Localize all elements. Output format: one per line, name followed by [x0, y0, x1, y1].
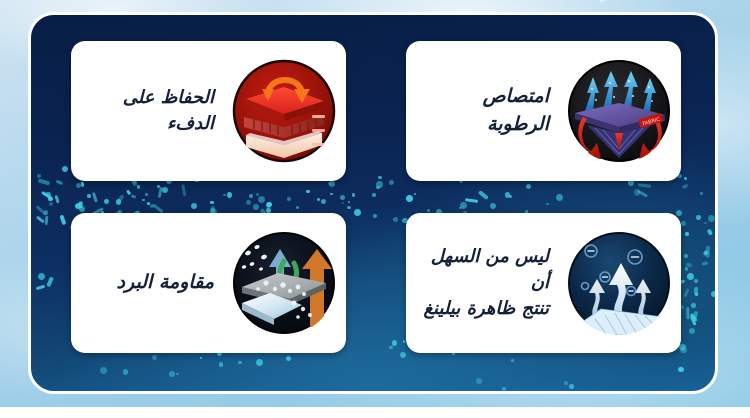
particle-dot	[49, 202, 53, 206]
feature-card-cold-resistance-label: مقاومة البرد	[71, 269, 226, 297]
particle-dot	[476, 378, 482, 384]
particle-dot	[414, 193, 416, 195]
particle-dash	[478, 190, 489, 200]
particle-dash	[702, 261, 709, 266]
feature-card-moisture-absorption-label: امتصاص الرطوبة	[406, 83, 561, 138]
particle-dash	[125, 189, 131, 195]
particle-dot	[328, 182, 332, 186]
particle-dot	[634, 189, 641, 196]
warmth-retention-icon	[232, 59, 336, 163]
particle-dot	[685, 267, 689, 271]
label-line-1: مقاومة البرد	[81, 269, 214, 297]
particle-dash	[703, 250, 709, 256]
particle-dash	[92, 192, 97, 202]
particle-dot	[157, 185, 160, 188]
particle-dot	[79, 206, 85, 212]
particle-dot	[376, 186, 380, 190]
particle-dot	[330, 193, 333, 196]
particle-dot	[191, 203, 197, 209]
particle-dot	[354, 209, 361, 216]
particle-dash	[37, 178, 50, 185]
particle-dot	[246, 200, 251, 205]
particle-dot	[685, 232, 690, 237]
feature-card-moisture-absorption[interactable]: FABRIC امتصاص الرطوبة	[406, 41, 681, 181]
particle-dash	[637, 189, 648, 197]
particle-dash	[706, 229, 712, 236]
feature-card-anti-pilling[interactable]: ليس من السهل أن تنتج ظاهرة بيلينغ	[406, 213, 681, 353]
particle-dot	[219, 362, 224, 367]
particle-dot	[123, 369, 128, 374]
particle-dot	[678, 367, 683, 372]
particle-dot	[223, 194, 226, 197]
particle-dot	[62, 166, 68, 172]
label-line-2: تنتج ظاهرة بيلينغ	[416, 296, 549, 322]
particle-dash	[692, 311, 698, 320]
anti-pilling-icon	[567, 231, 671, 335]
particle-dot	[75, 203, 81, 209]
particle-dot	[169, 371, 175, 377]
particle-dot	[711, 291, 717, 297]
particle-dot	[389, 346, 392, 349]
particle-dash	[685, 263, 691, 268]
particle-dot	[133, 181, 137, 185]
particle-dash	[689, 315, 696, 326]
particle-dot	[403, 340, 406, 343]
particle-dot	[694, 279, 698, 283]
particle-dot	[267, 202, 272, 207]
particle-dot	[509, 195, 512, 198]
particle-dash	[55, 180, 63, 186]
particle-dot	[684, 177, 687, 180]
particle-dot	[680, 347, 686, 353]
particle-dot	[340, 195, 345, 200]
particle-dot	[238, 361, 242, 365]
particle-dash	[35, 205, 46, 216]
particle-dot	[490, 203, 496, 209]
particle-dot	[389, 180, 394, 185]
particle-dash	[79, 201, 83, 208]
particle-dash	[465, 198, 478, 203]
feature-card-cold-resistance[interactable]: مقاومة البرد	[71, 213, 346, 353]
particle-dot	[44, 210, 49, 215]
particle-dot	[681, 221, 685, 225]
particle-dot	[676, 210, 682, 216]
particle-dot	[696, 215, 701, 220]
particle-dot	[227, 192, 232, 197]
particle-dot	[342, 202, 344, 204]
particle-dash	[36, 284, 45, 289]
particle-dash	[683, 288, 690, 298]
feature-card-anti-pilling-label: ليس من السهل أن تنتج ظاهرة بيلينغ	[406, 244, 561, 322]
particle-dot	[459, 207, 461, 209]
particle-dot	[378, 176, 381, 179]
particle-dot	[137, 185, 141, 189]
particle-dot	[317, 198, 320, 201]
particle-dot	[142, 199, 145, 202]
particle-dot	[48, 197, 52, 201]
label-line-2: الدفء	[81, 111, 214, 137]
moisture-absorption-icon: FABRIC	[567, 59, 671, 163]
particle-dot	[695, 293, 698, 296]
particle-dot	[87, 194, 91, 198]
label-line-1: امتصاص الرطوبة	[416, 83, 549, 138]
particle-dash	[45, 216, 49, 225]
cold-resistance-icon	[232, 231, 336, 335]
particle-dot	[100, 367, 107, 374]
particle-dot	[526, 184, 531, 189]
screenshot-stage: الحفاظ على الدفء	[0, 0, 750, 418]
particle-dash	[689, 313, 698, 323]
particle-dot	[393, 217, 398, 222]
particle-dot	[38, 273, 45, 280]
particle-dot	[296, 206, 299, 209]
particle-dot	[45, 192, 50, 197]
particle-dot	[162, 187, 169, 194]
label-line-1: الحفاظ على	[81, 85, 214, 111]
particle-dot	[687, 273, 694, 280]
particle-dash	[638, 184, 651, 188]
feature-card-warmth-retention[interactable]: الحفاظ على الدفء	[71, 41, 346, 181]
particle-dot	[147, 202, 150, 205]
particle-dash	[157, 187, 162, 198]
particle-dot	[427, 209, 430, 212]
particle-dot	[116, 199, 121, 204]
particle-dot	[347, 206, 350, 209]
particle-dot	[266, 202, 272, 208]
particle-dot	[176, 373, 179, 376]
particle-dot	[376, 181, 383, 188]
particle-dash	[46, 277, 53, 288]
particle-dot	[200, 357, 202, 359]
particle-dot	[511, 359, 514, 362]
particle-dot	[400, 352, 406, 358]
particle-dot	[249, 194, 253, 198]
particle-dot	[700, 192, 703, 195]
particle-dot	[373, 214, 377, 218]
particle-dash	[60, 214, 67, 225]
particle-dash	[687, 307, 690, 319]
particle-dot	[104, 199, 109, 204]
particle-dash	[81, 182, 84, 188]
particle-dot	[392, 340, 398, 346]
particle-dot	[152, 355, 157, 360]
particle-dash	[693, 287, 697, 295]
particle-dash	[182, 184, 187, 196]
particle-dot	[37, 174, 41, 178]
particle-dot	[145, 193, 148, 196]
particle-dot	[329, 181, 335, 187]
particle-dash	[130, 194, 136, 199]
particle-dot	[564, 381, 567, 384]
particle-dot	[211, 206, 215, 210]
particle-dot	[286, 356, 291, 361]
particle-dot	[253, 204, 259, 210]
particle-dot	[684, 254, 687, 257]
particle-dot	[352, 193, 355, 196]
particle-dot	[452, 353, 455, 356]
particle-dot	[505, 192, 510, 197]
particle-dot	[691, 303, 695, 307]
particle-dot	[460, 202, 467, 209]
particle-dot	[502, 387, 506, 391]
particle-dot	[287, 197, 291, 201]
feature-card-warmth-retention-label: الحفاظ على الدفء	[71, 85, 226, 137]
particle-dot	[546, 203, 548, 205]
bottom-white-strip	[0, 407, 750, 418]
particle-dash	[36, 216, 45, 224]
particle-dot	[689, 328, 695, 334]
particle-dot	[321, 199, 326, 204]
particle-dot	[258, 196, 265, 203]
particle-dot	[306, 190, 310, 194]
features-panel: الحفاظ على الدفء	[28, 12, 718, 394]
particle-dot	[679, 344, 686, 351]
particle-dot	[150, 204, 154, 208]
particle-dash	[682, 184, 688, 189]
particle-dot	[210, 201, 213, 204]
particle-dot	[708, 215, 715, 222]
particle-dot	[348, 201, 350, 203]
particle-dash	[706, 246, 710, 258]
particle-dot	[372, 193, 376, 197]
particle-dash	[54, 195, 59, 204]
label-line-1: ليس من السهل أن	[416, 244, 549, 296]
particle-dot	[556, 194, 563, 201]
particle-dash	[117, 195, 125, 204]
particle-dot	[256, 193, 259, 196]
particle-dash	[41, 191, 53, 200]
particle-dot	[76, 183, 81, 188]
particle-dot	[569, 384, 574, 389]
particle-dot	[406, 195, 413, 202]
particle-dot	[256, 359, 263, 366]
particle-dot	[704, 222, 707, 225]
